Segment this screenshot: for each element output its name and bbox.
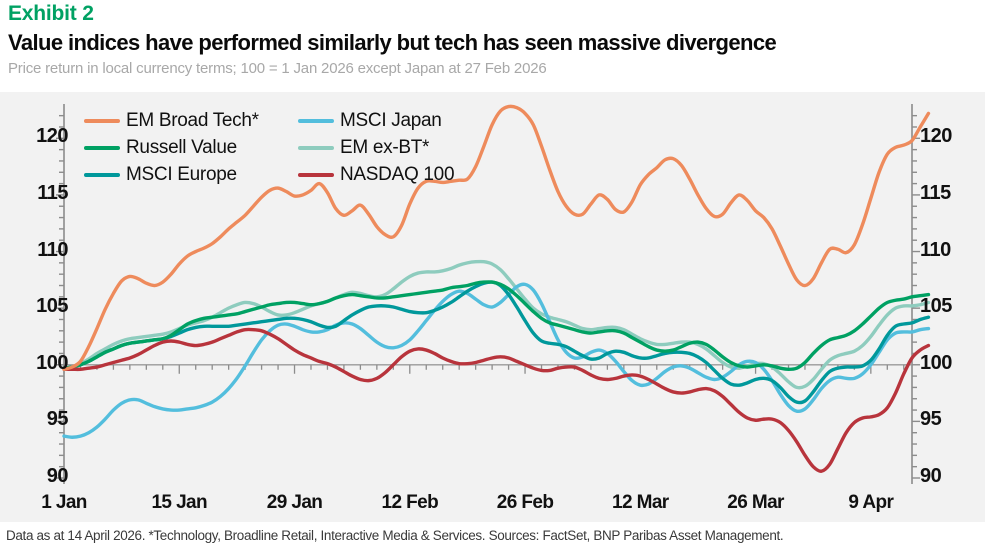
chart-title: Value indices have performed similarly b… <box>8 30 776 56</box>
y-axis-tick-label: 100 <box>36 352 68 375</box>
y-axis-tick-label: 90 <box>47 465 68 488</box>
legend-item-msci-europe[interactable]: MSCI Europe <box>84 161 259 188</box>
legend-item-em-ex-bt[interactable]: EM ex-BT* <box>298 134 454 161</box>
legend-swatch-icon <box>84 173 120 177</box>
y-axis-tick-label: 110 <box>37 239 68 262</box>
legend-label: EM ex-BT* <box>340 138 429 157</box>
legend-item-msci-japan[interactable]: MSCI Japan <box>298 107 454 134</box>
legend-label: Russell Value <box>126 138 237 157</box>
chart-subtitle: Price return in local currency terms; 10… <box>8 60 547 77</box>
y-axis-tick-label-right: 105 <box>920 295 952 318</box>
chart-footer: Data as at 14 April 2026. *Technology, B… <box>0 522 985 558</box>
series-line-msci-japan <box>64 284 928 437</box>
y-axis-tick-label-right: 120 <box>920 125 952 148</box>
source-note: Data as at 14 April 2026. *Technology, B… <box>6 528 783 543</box>
chart-legend: EM Broad Tech* Russell Value MSCI Europe… <box>84 107 484 189</box>
legend-label: NASDAQ 100 <box>340 165 454 184</box>
legend-swatch-icon <box>84 146 120 150</box>
legend-item-russell-value[interactable]: Russell Value <box>84 134 259 161</box>
y-axis-tick-label: 105 <box>36 295 68 318</box>
x-axis-tick-label: 1 Jan <box>4 492 124 514</box>
y-axis-tick-label: 120 <box>36 125 68 148</box>
y-axis-tick-label-right: 110 <box>920 239 951 262</box>
legend-column-left: EM Broad Tech* Russell Value MSCI Europe <box>84 107 259 188</box>
legend-swatch-icon <box>298 146 334 150</box>
y-axis-tick-label-right: 115 <box>920 182 951 205</box>
legend-label: EM Broad Tech* <box>126 111 259 130</box>
legend-label: MSCI Europe <box>126 165 237 184</box>
x-axis-tick-label: 26 Feb <box>465 492 585 514</box>
y-axis-tick-label-right: 90 <box>920 465 941 488</box>
x-axis-tick-label: 29 Jan <box>235 492 355 514</box>
chart-page: Exhibit 2 Value indices have performed s… <box>0 0 985 558</box>
x-axis-tick-label: 15 Jan <box>119 492 239 514</box>
x-axis-tick-label: 12 Feb <box>350 492 470 514</box>
legend-swatch-icon <box>298 173 334 177</box>
x-axis-tick-label: 26 Mar <box>696 492 816 514</box>
legend-swatch-icon <box>298 119 334 123</box>
legend-swatch-icon <box>84 119 120 123</box>
y-axis-tick-label-right: 95 <box>920 408 941 431</box>
series-line-nasdaq-100 <box>64 329 928 471</box>
exhibit-number: Exhibit 2 <box>8 2 94 26</box>
y-axis-tick-label: 115 <box>37 182 68 205</box>
x-axis-tick-label: 12 Mar <box>580 492 700 514</box>
y-axis-tick-label-right: 100 <box>920 352 952 375</box>
x-axis-tick-label: 9 Apr <box>811 492 931 514</box>
chart-header: Exhibit 2 Value indices have performed s… <box>0 0 985 92</box>
legend-item-em-broad-tech[interactable]: EM Broad Tech* <box>84 107 259 134</box>
y-axis-tick-label: 95 <box>47 408 68 431</box>
legend-item-nasdaq-100[interactable]: NASDAQ 100 <box>298 161 454 188</box>
legend-label: MSCI Japan <box>340 111 442 130</box>
series-line-msci-europe <box>64 282 928 403</box>
chart-panel: EM Broad Tech* Russell Value MSCI Europe… <box>0 92 985 522</box>
legend-column-right: MSCI Japan EM ex-BT* NASDAQ 100 <box>298 107 454 188</box>
